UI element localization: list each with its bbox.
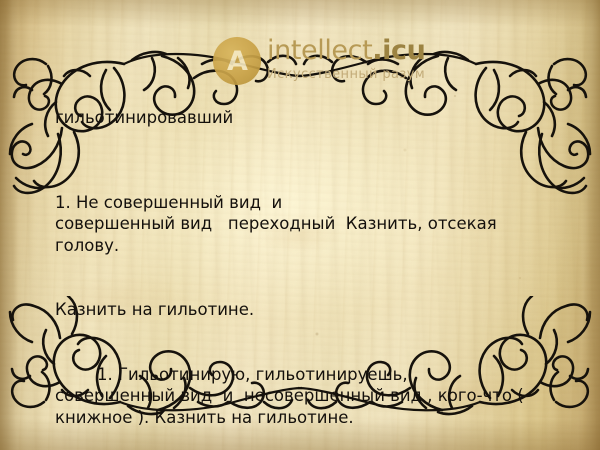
article-paragraph-3: 1. Гильотинирую, гильотинируешь, соверше… xyxy=(55,364,555,429)
article-paragraph-1: 1. Не совершенный вид и совершенный вид … xyxy=(55,192,555,257)
watermark-brand-bold: .icu xyxy=(372,35,425,66)
watermark-brand-light: intellect xyxy=(267,35,372,66)
watermark-brand: intellect.icu xyxy=(267,36,425,66)
parchment-page: A intellect.icu Искусственный разум гиль… xyxy=(0,0,600,450)
dictionary-article: гильотинировавший 1. Не совершенный вид … xyxy=(55,64,555,450)
article-headword: гильотинировавший xyxy=(55,107,555,129)
article-paragraph-2: Казнить на гильотине. xyxy=(55,299,555,321)
